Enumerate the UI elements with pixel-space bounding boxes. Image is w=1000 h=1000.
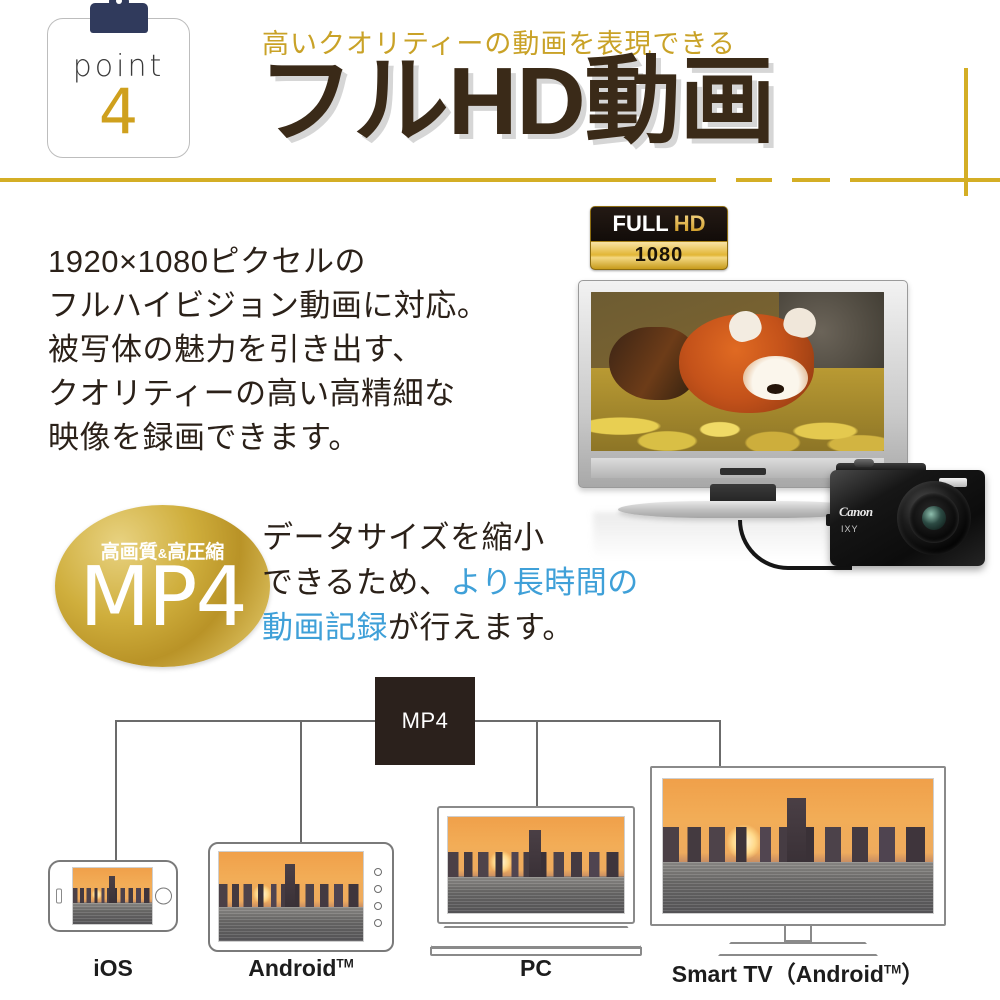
landmark-tower bbox=[529, 830, 541, 876]
device-label-pc: PC bbox=[430, 955, 642, 982]
camera-lens-barrel bbox=[909, 493, 959, 543]
sunset-photo bbox=[73, 868, 152, 924]
page-title: フルHD動画 bbox=[258, 52, 775, 153]
tablet-screen bbox=[218, 851, 364, 942]
camera-lens-glass bbox=[922, 506, 946, 530]
camera-shutter-button bbox=[854, 459, 874, 467]
device-label-smart-tv: Smart TV（AndroidTM） bbox=[650, 955, 946, 989]
camera-lens bbox=[897, 481, 971, 555]
mp4-line3-plain: が行えます。 bbox=[388, 610, 574, 645]
connector-vertical-android bbox=[300, 720, 302, 842]
water bbox=[219, 907, 363, 941]
device-laptop-pc bbox=[430, 806, 642, 956]
laptop-lid bbox=[437, 806, 635, 924]
smart-tv-stand-base bbox=[718, 942, 878, 956]
mp4-badge: 高画質&高圧縮 MP4 bbox=[55, 505, 270, 667]
full-hd-badge: FULL HD 1080 bbox=[590, 206, 728, 270]
television-illustration bbox=[578, 280, 908, 488]
mp4-format-hub: MP4 bbox=[375, 677, 475, 765]
device-smart-tv bbox=[650, 766, 946, 956]
landmark-tower bbox=[285, 864, 295, 907]
camera-illustration: Canon IXY bbox=[830, 470, 985, 566]
tablet-button-dots-icon bbox=[374, 868, 382, 927]
badge-full-text: FULL bbox=[613, 211, 669, 237]
water bbox=[448, 877, 624, 913]
trademark-icon: TM bbox=[884, 962, 901, 976]
mp4-line3-highlight: 動画記録 bbox=[262, 610, 388, 645]
tv-sensor-bar bbox=[720, 468, 766, 475]
phone-speaker-icon bbox=[56, 889, 62, 904]
divider-gap bbox=[772, 174, 792, 186]
landmark-tower bbox=[109, 876, 115, 903]
mp4-description-line-1: データサイズを縮小 bbox=[262, 516, 639, 561]
camera-body: Canon IXY bbox=[830, 470, 985, 566]
smart-tv-shell bbox=[650, 766, 946, 926]
tv-screen bbox=[591, 292, 884, 451]
laptop-base bbox=[430, 926, 642, 956]
smart-tv-stand-neck bbox=[784, 926, 812, 942]
connector-vertical-smarttv bbox=[719, 720, 721, 766]
connector-vertical-pc bbox=[536, 720, 538, 806]
laptop-screen bbox=[447, 816, 625, 914]
camera-brand-label: Canon bbox=[839, 504, 873, 520]
point-number: 4 bbox=[48, 81, 189, 143]
feature-description: 1920×1080ピクセルの フルハイビジョン動画に対応。 被写体の魅力を引き出… bbox=[48, 240, 488, 460]
header-divider-vertical bbox=[964, 68, 968, 196]
device-compatibility-diagram: MP4 iOS bbox=[0, 670, 1000, 1000]
device-label-smart-tv-text: Smart TV（Android bbox=[672, 961, 884, 987]
mp4-line2-highlight: より長時間の bbox=[450, 565, 638, 600]
divider-gap bbox=[830, 174, 850, 186]
mp4-badge-title: MP4 bbox=[55, 557, 270, 639]
mp4-description-line-3: 動画記録が行えます。 bbox=[262, 606, 639, 651]
divider-gap bbox=[716, 174, 736, 186]
sunset-photo bbox=[448, 817, 624, 913]
badge-resolution-text: 1080 bbox=[635, 244, 684, 267]
water bbox=[73, 903, 152, 924]
trademark-icon: TM bbox=[336, 956, 353, 970]
page-root: point 4 高いクオリティーの動画を表現できる フルHD動画 1920×10… bbox=[0, 0, 1000, 1000]
water bbox=[663, 862, 933, 913]
phone-home-button-icon bbox=[155, 888, 172, 905]
device-phone-ios bbox=[48, 860, 178, 932]
laptop-keyboard-deck bbox=[430, 926, 642, 948]
clipboard-clip-icon bbox=[90, 3, 148, 33]
full-hd-badge-bottom: 1080 bbox=[591, 242, 727, 269]
mp4-description-line-2: できるため、より長時間の bbox=[262, 561, 639, 606]
device-tablet-android bbox=[208, 842, 394, 952]
device-label-ios: iOS bbox=[48, 955, 178, 982]
smart-tv-screen bbox=[662, 778, 934, 914]
phone-screen bbox=[72, 867, 153, 925]
header-divider-horizontal bbox=[0, 178, 1000, 182]
sunset-photo bbox=[663, 779, 933, 913]
badge-hd-text: HD bbox=[674, 211, 706, 237]
device-label-android-text: Android bbox=[248, 955, 336, 981]
camera-model-label: IXY bbox=[841, 524, 859, 534]
mp4-line2-plain: できるため、 bbox=[262, 565, 450, 600]
device-label-smart-tv-tail: ） bbox=[901, 961, 924, 987]
red-panda-nose bbox=[767, 384, 785, 394]
sunset-photo bbox=[219, 852, 363, 941]
mp4-description: データサイズを縮小 できるため、より長時間の 動画記録が行えます。 bbox=[262, 516, 639, 651]
landmark-tower bbox=[787, 798, 806, 862]
point-badge: point 4 bbox=[47, 18, 190, 158]
full-hd-badge-top: FULL HD bbox=[591, 207, 727, 242]
device-label-android: AndroidTM bbox=[208, 955, 394, 982]
